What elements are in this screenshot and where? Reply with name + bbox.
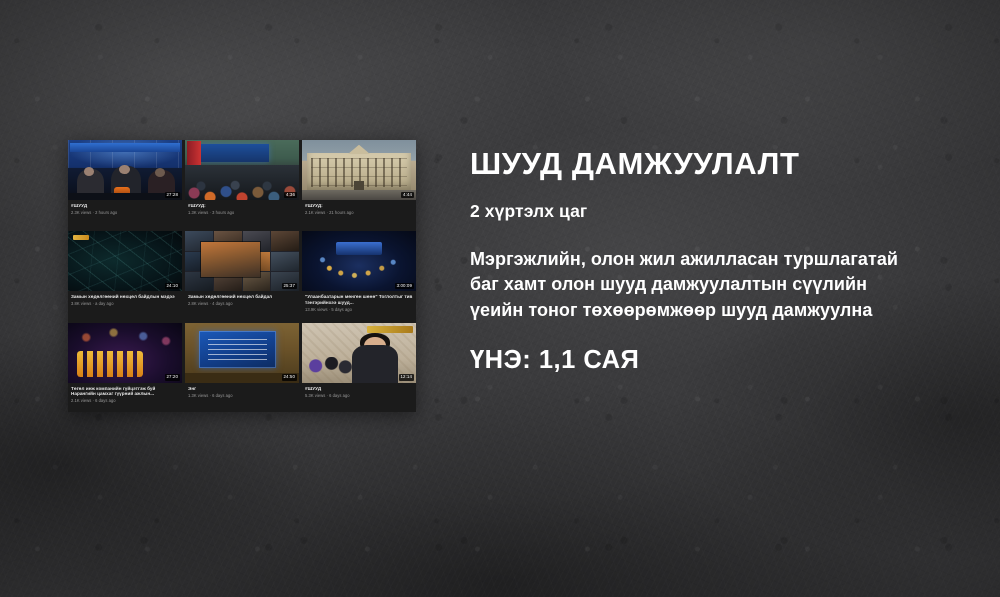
video-title[interactable]: #ШУУД: (188, 203, 296, 209)
video-card[interactable]: 3:00:09 "Улаанбаатарын мөнгөн шөнө" Тогл… (302, 231, 416, 320)
copy-block: ШУУД ДАМЖУУЛАЛТ 2 хүртэлх цаг Мэргэжлийн… (470, 148, 940, 375)
video-meta: Замын хөдөлгөөний нөхцөл байдал 2.8K vie… (185, 291, 299, 320)
video-thumbnail[interactable]: 3:00:09 (302, 231, 416, 291)
video-stats: 2.8K views · 4 days ago (188, 301, 296, 306)
video-duration-badge: 4:36 (284, 192, 297, 198)
video-meta: Энг 1.3K views · 6 days ago (185, 383, 299, 412)
video-card[interactable]: 27:20 Төгөл инж компанийн гүйцэтгэж буй … (68, 323, 182, 412)
video-meta: #ШУУД: 2.1K views · 21 hours ago (302, 200, 416, 229)
video-thumbnail[interactable]: 27:28 (68, 140, 182, 200)
video-duration-badge: 4:44 (401, 192, 414, 198)
video-card[interactable]: 27:28 #ШУУД 2.3K views · 2 hours ago (68, 140, 182, 229)
video-stats: 3.8K views · a day ago (71, 301, 179, 306)
video-duration-badge: 12:14 (399, 374, 415, 380)
video-duration-badge: 27:28 (165, 192, 181, 198)
video-duration-badge: 24:10 (165, 283, 181, 289)
video-meta: #ШУУД: 1.3K views · 3 hours ago (185, 200, 299, 229)
video-card[interactable]: 24:10 Замын хөдөлгөөний нөхцөл байдлын м… (68, 231, 182, 320)
video-card[interactable]: 12:14 #ШУУД 5.3K views · 6 days ago (302, 323, 416, 412)
video-title[interactable]: Энг (188, 386, 296, 392)
video-stats: 2.1K views · 6 days ago (71, 398, 179, 403)
video-meta: "Улаанбаатарын мөнгөн шөнө" Тоглолтыг ти… (302, 291, 416, 320)
video-stats: 2.1K views · 21 hours ago (305, 210, 413, 215)
video-title[interactable]: #ШУУД (305, 386, 413, 392)
video-meta: #ШУУД 5.3K views · 6 days ago (302, 383, 416, 412)
thumbnail-artwork-ceremony-hall (185, 140, 299, 200)
video-duration-badge: 3:00:09 (395, 283, 414, 289)
thumbnail-artwork-news-studio (68, 140, 182, 200)
video-stats: 1.3K views · 6 days ago (188, 393, 296, 398)
video-thumbnail[interactable]: 12:14 (302, 323, 416, 383)
video-duration-badge: 27:20 (165, 374, 181, 380)
video-meta: #ШУУД 2.3K views · 2 hours ago (68, 200, 182, 229)
video-thumbnail[interactable]: 27:20 (68, 323, 182, 383)
video-card[interactable]: 24:50 Энг 1.3K views · 6 days ago (185, 323, 299, 412)
video-card[interactable]: 4:44 #ШУУД: 2.1K views · 21 hours ago (302, 140, 416, 229)
video-thumbnail[interactable]: 4:36 (185, 140, 299, 200)
slide-headline: ШУУД ДАМЖУУЛАЛТ (470, 148, 940, 181)
video-stats: 5.3K views · 6 days ago (305, 393, 413, 398)
video-title[interactable]: Төгөл инж компанийн гүйцэтгэж буй Наранг… (71, 386, 179, 397)
video-thumbnail[interactable]: 24:50 (185, 323, 299, 383)
video-title[interactable]: Замын хөдөлгөөний нөхцөл байдал (188, 294, 296, 300)
video-thumbnail[interactable]: 4:44 (302, 140, 416, 200)
video-stats: 13.9K views · 5 days ago (305, 307, 413, 312)
video-stats: 1.3K views · 3 hours ago (188, 210, 296, 215)
video-meta: Төгөл инж компанийн гүйцэтгэж буй Наранг… (68, 383, 182, 412)
video-title[interactable]: #ШУУД: (305, 203, 413, 209)
video-thumbnail[interactable]: 24:10 (68, 231, 182, 291)
video-title[interactable]: "Улаанбаатарын мөнгөн шөнө" Тоглолтыг ти… (305, 294, 413, 305)
video-grid-panel: 27:28 #ШУУД 2.3K views · 2 hours ago 4:3… (68, 140, 416, 412)
slide-subheadline: 2 хүртэлх цаг (470, 201, 940, 222)
thumbnail-artwork-government-building (302, 140, 416, 200)
video-card[interactable]: 25:37 Замын хөдөлгөөний нөхцөл байдал 2.… (185, 231, 299, 320)
slide-price: ҮНЭ: 1,1 САЯ (470, 346, 940, 375)
video-stats: 2.3K views · 2 hours ago (71, 210, 179, 215)
video-card[interactable]: 4:36 #ШУУД: 1.3K views · 3 hours ago (185, 140, 299, 229)
video-meta: Замын хөдөлгөөний нөхцөл байдлын мэдээ 3… (68, 291, 182, 320)
video-title[interactable]: #ШУУД (71, 203, 179, 209)
video-duration-badge: 25:37 (282, 283, 298, 289)
video-thumbnail[interactable]: 25:37 (185, 231, 299, 291)
presentation-slide: 27:28 #ШУУД 2.3K views · 2 hours ago 4:3… (0, 0, 1000, 597)
video-title[interactable]: Замын хөдөлгөөний нөхцөл байдлын мэдээ (71, 294, 179, 300)
video-duration-badge: 24:50 (282, 374, 298, 380)
slide-body-text: Мэргэжлийн, олон жил ажилласан туршлагат… (470, 247, 910, 325)
